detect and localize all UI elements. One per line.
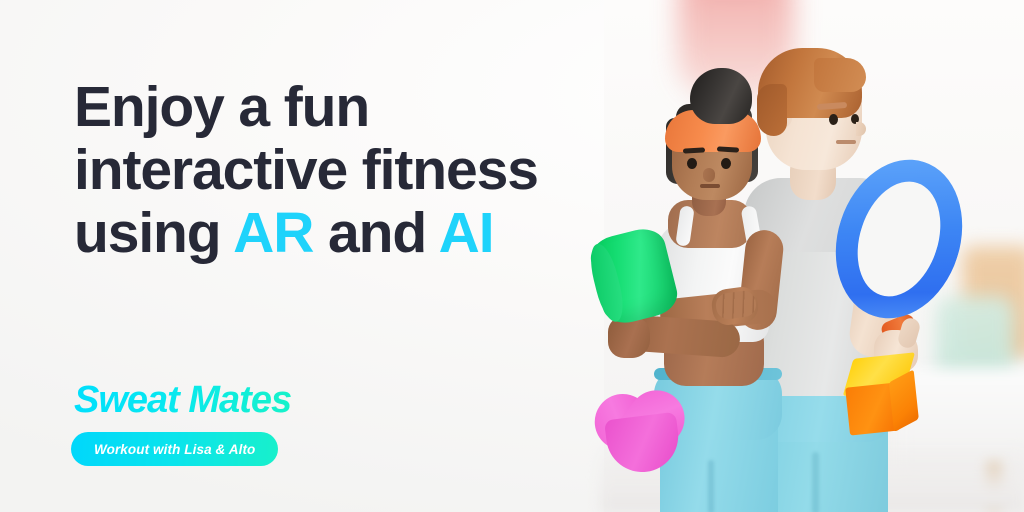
alto-mouth (836, 140, 856, 144)
alto-eye-left (829, 114, 838, 125)
lisa-eyebrow-right (717, 146, 739, 152)
alto-nose (856, 122, 866, 136)
page-headline: Enjoy a fun interactive fitness using AR… (74, 76, 634, 265)
lisa-hair-bun (690, 68, 752, 124)
prop-pink-heart-icon (592, 385, 692, 480)
lisa-leg-gap (708, 460, 714, 512)
headline-line-2: interactive fitness (74, 138, 538, 202)
headline-line-1: Enjoy a fun (74, 75, 369, 139)
headline-accent-ai: AI (439, 201, 494, 265)
headline-accent-ar: AR (233, 201, 313, 265)
lisa-mouth (700, 184, 720, 188)
workout-badge-label: Workout with Lisa & Alto (94, 442, 255, 457)
prop-orange-cube-icon (842, 352, 922, 435)
alto-hair-fringe (814, 58, 866, 92)
lisa-eye-left (687, 158, 697, 169)
alto-leg-gap (812, 452, 819, 512)
alto-hair-side (757, 84, 787, 136)
headline-line-3-mid: and (313, 201, 438, 265)
headline-line-3-prefix: using (74, 201, 233, 265)
heart-body (604, 412, 682, 476)
lisa-eye-right (721, 158, 731, 169)
cube-face-side (889, 369, 919, 432)
lisa-nose (703, 168, 715, 182)
workout-badge[interactable]: Workout with Lisa & Alto (71, 432, 278, 466)
brand-name: Sweat Mates (74, 379, 291, 422)
promo-banner: Enjoy a fun interactive fitness using AR… (0, 0, 1024, 512)
